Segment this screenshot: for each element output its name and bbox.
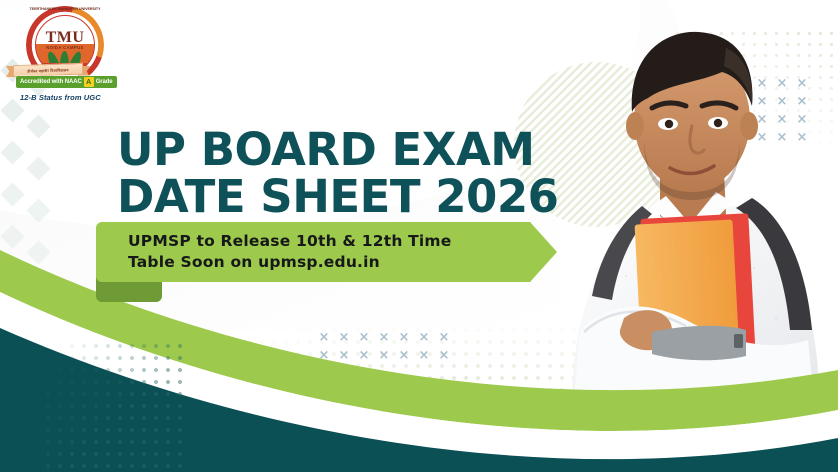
page-title-line-2: DATE SHEET 2026 xyxy=(117,173,558,220)
diamond-icon xyxy=(0,182,24,206)
page-title-line-1: UP BOARD EXAM xyxy=(117,123,535,176)
ugc-status-label: 12-B Status from UGC xyxy=(20,93,101,102)
naac-grade-label: A xyxy=(84,77,94,87)
diamond-icon xyxy=(0,140,24,164)
subtitle-ribbon: UPMSP to Release 10th & 12th Time Table … xyxy=(96,222,530,282)
naac-accreditation-badge: Accredited with NAAC A Grade xyxy=(16,76,117,88)
diamond-icon xyxy=(26,198,50,222)
naac-prefix-label: Accredited with NAAC xyxy=(20,79,82,85)
subtitle-ribbon-wrapper: UPMSP to Release 10th & 12th Time Table … xyxy=(96,222,530,282)
tmu-logo[interactable]: TEERTHANKER MAHAVEER UNIVERSITY TMU NOID… xyxy=(8,4,126,112)
naac-suffix-label: Grade xyxy=(96,79,113,85)
subtitle-text: UPMSP to Release 10th & 12th Time Table … xyxy=(128,231,452,273)
dot-grid-teal-overlay xyxy=(42,340,182,470)
ribbon-label: तीर्थंकर महावीर विश्वविद्यालय xyxy=(14,67,82,74)
banner-root: ×××××××××××× ×××××××××××××× xyxy=(0,0,838,472)
page-title: UP BOARD EXAM DATE SHEET 2026 xyxy=(117,126,558,220)
diamond-icon xyxy=(26,156,50,180)
diamond-icon xyxy=(26,114,50,138)
